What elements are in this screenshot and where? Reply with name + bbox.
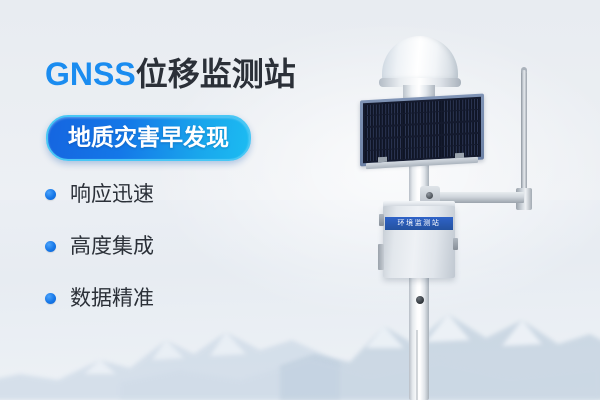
- solar-cell: [442, 122, 479, 134]
- list-item: 高度集成: [45, 234, 154, 259]
- solar-cell: [403, 136, 440, 148]
- solar-panel-icon: [360, 94, 484, 167]
- enclosure-hinge: [378, 244, 384, 270]
- feature-label: 响应迅速: [70, 182, 154, 207]
- list-item: 响应迅速: [45, 182, 154, 207]
- solar-cell: [365, 103, 402, 115]
- enclosure-label: 环境监测站: [385, 217, 453, 230]
- status-badge: 地质灾害早发现: [46, 115, 251, 161]
- arm-bolt: [426, 192, 433, 199]
- product-banner: 环境监测站 GNSS位移监测站 地质灾害早发现 响应迅速 高度集成 数据精准: [0, 0, 600, 400]
- title-en: GNSS: [45, 56, 136, 92]
- solar-cell: [403, 112, 440, 124]
- bullet-dot-icon: [45, 241, 56, 252]
- solar-cell: [442, 98, 479, 110]
- feature-label: 高度集成: [70, 234, 154, 259]
- feature-label: 数据精准: [70, 286, 154, 311]
- gnss-antenna-dome-icon: [382, 36, 458, 82]
- solar-cell: [365, 126, 402, 138]
- feature-list: 响应迅速 高度集成 数据精准: [45, 182, 154, 338]
- pole-bolt: [416, 296, 424, 304]
- solar-cell: [403, 124, 440, 136]
- solar-cell: [403, 100, 440, 112]
- enclosure-latch: [379, 214, 384, 226]
- solar-panel-foot: [455, 153, 464, 159]
- solar-cell: [365, 114, 402, 126]
- title-cn: 位移监测站: [136, 56, 296, 92]
- solar-cell: [403, 147, 440, 159]
- bullet-dot-icon: [45, 293, 56, 304]
- pole-seam: [416, 330, 418, 400]
- bullet-dot-icon: [45, 189, 56, 200]
- enclosure-label-text: 环境监测站: [398, 217, 441, 230]
- enclosure-latch: [453, 238, 458, 250]
- solar-cell: [442, 133, 479, 145]
- solar-cell: [365, 138, 402, 150]
- page-title: GNSS位移监测站: [45, 55, 296, 93]
- solar-panel-foot: [378, 157, 387, 163]
- solar-cell: [442, 110, 479, 122]
- list-item: 数据精准: [45, 286, 154, 311]
- whip-antenna-icon: [521, 70, 527, 202]
